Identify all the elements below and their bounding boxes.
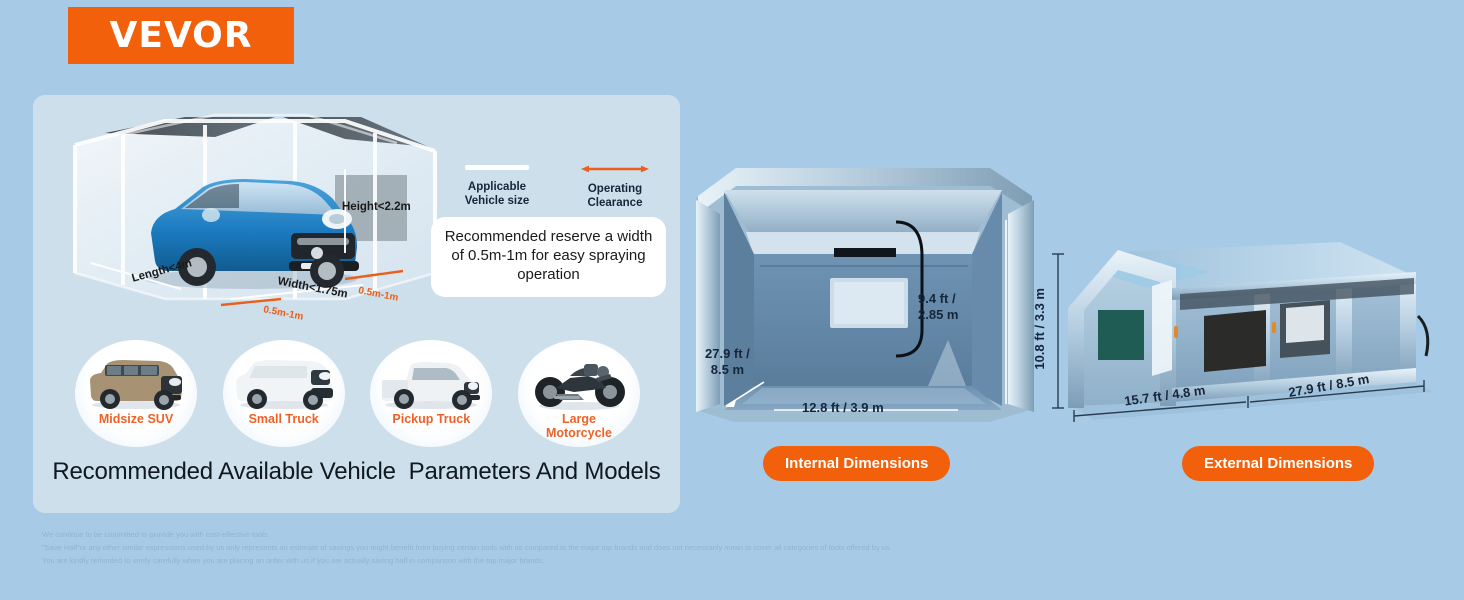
internal-height-line2: 8.5 m [705,362,750,378]
external-dimensions-figure: 10.8 ft / 3.3 m 15.7 ft / 4.8 m 27.9 ft … [1040,230,1440,430]
legend-item-operating-clearance: Operating Clearance [571,165,659,211]
legend-label-line1: Applicable [453,180,541,194]
vehicle-item-small-truck[interactable]: Small Truck [223,340,345,455]
height-dimension-label: Height<2.2m [342,201,411,213]
orange-double-arrow-icon [581,165,649,173]
internal-depth-line1: 9.4 ft / [918,291,958,307]
internal-dimensions-pill[interactable]: Internal Dimensions [763,446,950,481]
vehicle-compatibility-panel: Height<2.2m Length<4m Width<1.75m 0.5m-1… [33,95,680,513]
supported-vehicle-list: Midsize SUV Small Tr [75,340,640,455]
internal-depth-measurement: 9.4 ft / 2.85 m [918,291,958,322]
vehicle-label-line1: Midsize SUV [75,412,197,426]
booth-exterior-render [1040,230,1440,430]
product-infographic: VEVOR [0,0,1464,600]
pickup-truck-icon [378,354,484,412]
booth-wireframe-graphic [45,103,465,328]
van-icon [231,354,337,412]
diagram-legend: Applicable Vehicle size Operating [453,165,668,211]
vehicle-label-line1: Large [518,412,640,426]
external-height-measurement: 10.8 ft / 3.3 m [1032,288,1048,370]
brand-name: VEVOR [109,15,252,56]
internal-dimensions-figure: 27.9 ft / 8.5 m 9.4 ft / 2.85 m 12.8 ft … [690,160,1040,425]
panel-heading: Recommended Available Vehicle Parameters… [33,458,680,486]
external-dimensions-pill[interactable]: External Dimensions [1182,446,1374,481]
vehicle-label-line1: Small Truck [223,412,345,426]
internal-height-line1: 27.9 ft / [705,346,750,362]
booth-interior-render [690,160,1040,425]
vevor-logo: VEVOR [68,7,294,64]
legend-item-applicable-vehicle-size: Applicable Vehicle size [453,165,541,211]
disclaimer-line-2: "Save Half"or any other similar expressi… [42,541,1102,554]
vehicle-item-pickup-truck[interactable]: Pickup Truck [370,340,492,455]
legend-label-line2: Vehicle size [453,194,541,208]
vehicle-item-large-motorcycle[interactable]: Large Motorcycle [518,340,640,455]
recommendation-note: Recommended reserve a width of 0.5m-1m f… [431,217,666,297]
disclaimer-line-1: We continue to be committed to provide y… [42,528,1102,541]
legal-disclaimer: We continue to be committed to provide y… [42,528,1102,567]
vehicle-label-line1: Pickup Truck [370,412,492,426]
internal-height-measurement: 27.9 ft / 8.5 m [705,346,750,377]
vehicle-in-booth-illustration: Height<2.2m Length<4m Width<1.75m 0.5m-1… [45,103,465,328]
motorcycle-icon [526,354,632,412]
vehicle-label-line2: Motorcycle [518,426,640,440]
internal-width-measurement: 12.8 ft / 3.9 m [802,400,884,416]
legend-label-line1: Operating [571,182,659,196]
suv-icon [83,354,189,412]
internal-depth-line2: 2.85 m [918,307,958,323]
white-bar-icon [465,165,529,170]
legend-label-line2: Clearance [571,196,659,210]
disclaimer-line-3: You are kindly reminded to verify carefu… [42,554,1102,567]
vehicle-item-midsize-suv[interactable]: Midsize SUV [75,340,197,455]
